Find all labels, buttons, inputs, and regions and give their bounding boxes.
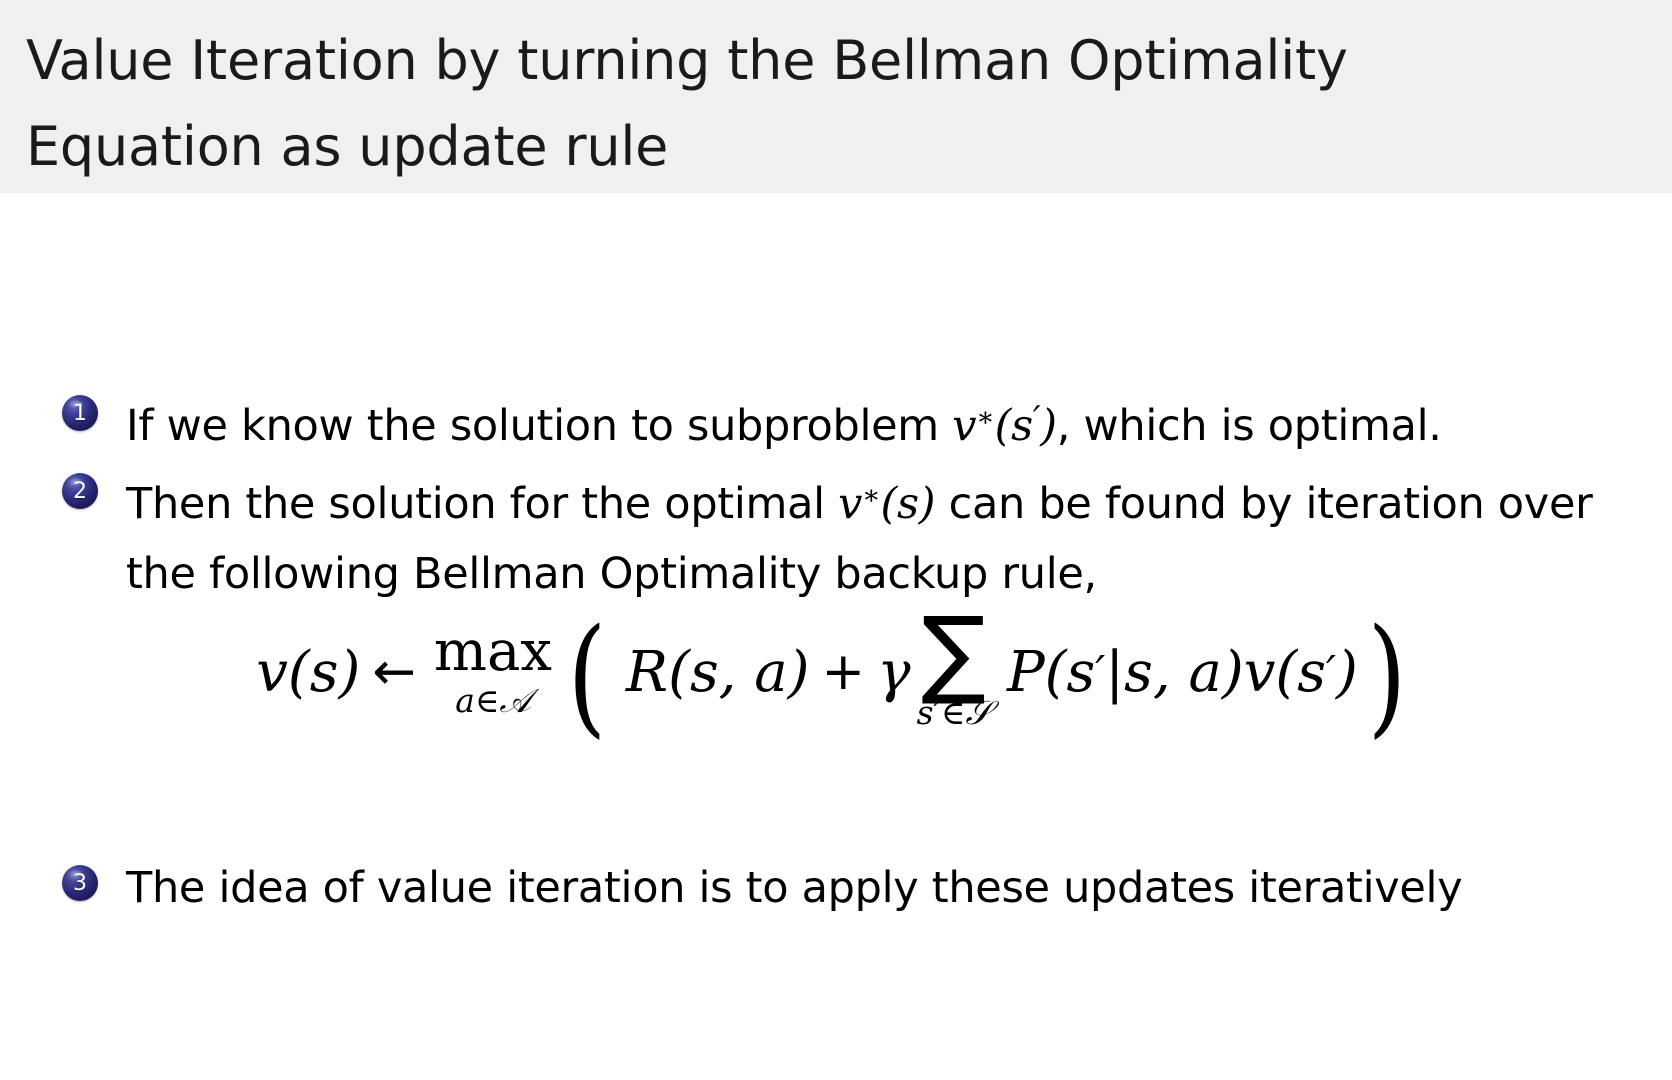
eq-open-paren: ( <box>567 637 606 716</box>
eq-lhs-value-fn: v <box>256 640 288 705</box>
eq-conditional-bar: | <box>1105 640 1124 705</box>
math-value-function: v <box>838 479 862 529</box>
display-equation: v(s) ← max a∈𝒜 ( R(s, a) + γ ∑ s′∈𝒮 P(s′… <box>0 613 1672 732</box>
numbered-bullet-icon: 3 <box>62 865 98 901</box>
math-argument-close: ) <box>1040 401 1056 451</box>
bullet-number: 1 <box>62 395 98 431</box>
bullet-text-before: Then the solution for the optimal <box>126 479 838 529</box>
eq-reward-fn: R <box>616 640 668 705</box>
eq-value-prime: ′ <box>1326 647 1336 698</box>
math-star-superscript: ∗ <box>862 480 880 511</box>
numbered-bullet-icon: 1 <box>62 395 98 431</box>
eq-max-label: max <box>434 624 552 680</box>
equation-line: v(s) ← max a∈𝒜 ( R(s, a) + γ ∑ s′∈𝒮 P(s′… <box>256 613 1416 732</box>
eq-summation-operator: ∑ s′∈𝒮 <box>917 613 991 732</box>
eq-sum-subscript: s′∈𝒮 <box>917 694 991 732</box>
list-item-text: The idea of value iteration is to apply … <box>126 853 1462 923</box>
eq-value-fn: v <box>1244 640 1276 705</box>
eq-gamma: γ <box>877 640 910 705</box>
eq-plus-icon: + <box>810 642 878 702</box>
list-item-text: If we know the solution to subproblem v∗… <box>126 383 1442 461</box>
eq-max-subscript: a∈𝒜 <box>455 682 530 720</box>
eq-lhs-args: (s) <box>288 640 360 705</box>
math-argument-open: (s) <box>881 479 936 529</box>
eq-sum-symbol-icon: ∑ <box>921 613 986 692</box>
slide-title-bar: Value Iteration by turning the Bellman O… <box>0 0 1672 193</box>
eq-value-open: (s <box>1275 640 1326 705</box>
eq-transition-fn: P <box>997 640 1045 705</box>
eq-transition-rest: s, a) <box>1124 640 1244 705</box>
list-item-text: Then the solution for the optimal v∗(s) … <box>126 461 1622 609</box>
bullet-number: 2 <box>62 473 98 509</box>
bullet-number: 3 <box>62 865 98 901</box>
eq-value-close: ) <box>1336 640 1358 705</box>
bullet-text-after: , which is optimal. <box>1057 401 1442 451</box>
math-argument-open: (s <box>995 401 1033 451</box>
math-star-superscript: ∗ <box>976 402 994 433</box>
page-title: Value Iteration by turning the Bellman O… <box>26 18 1632 190</box>
math-value-function: v <box>952 401 976 451</box>
eq-max-sub-var: a <box>455 681 475 720</box>
bullet-text-before: If we know the solution to subproblem <box>126 401 952 451</box>
list-item: 2 Then the solution for the optimal v∗(s… <box>62 461 1622 609</box>
eq-transition-open: (s <box>1045 640 1096 705</box>
eq-reward-args: (s, a) <box>668 640 809 705</box>
list-item: 1 If we know the solution to subproblem … <box>62 383 1622 461</box>
eq-sum-sub-in-icon: ∈ <box>941 693 965 732</box>
eq-transition-prime: ′ <box>1095 647 1105 698</box>
eq-sum-sub-set: 𝒮 <box>965 693 991 732</box>
eq-max-sub-set: 𝒜 <box>499 681 530 720</box>
eq-close-paren: ) <box>1367 637 1406 716</box>
bullet-text-before: The idea of value iteration is to apply … <box>126 863 1462 913</box>
list-item: 3 The idea of value iteration is to appl… <box>62 853 1622 923</box>
eq-sum-sub-var: s <box>917 693 934 732</box>
eq-max-sub-in-icon: ∈ <box>475 681 499 720</box>
slide-content: 1 If we know the solution to subproblem … <box>0 193 1672 1080</box>
numbered-bullet-icon: 2 <box>62 473 98 509</box>
eq-max-operator: max a∈𝒜 <box>434 624 552 720</box>
eq-assign-arrow-icon: ← <box>360 642 428 702</box>
eq-sum-sub-prime: ′ <box>934 693 942 732</box>
